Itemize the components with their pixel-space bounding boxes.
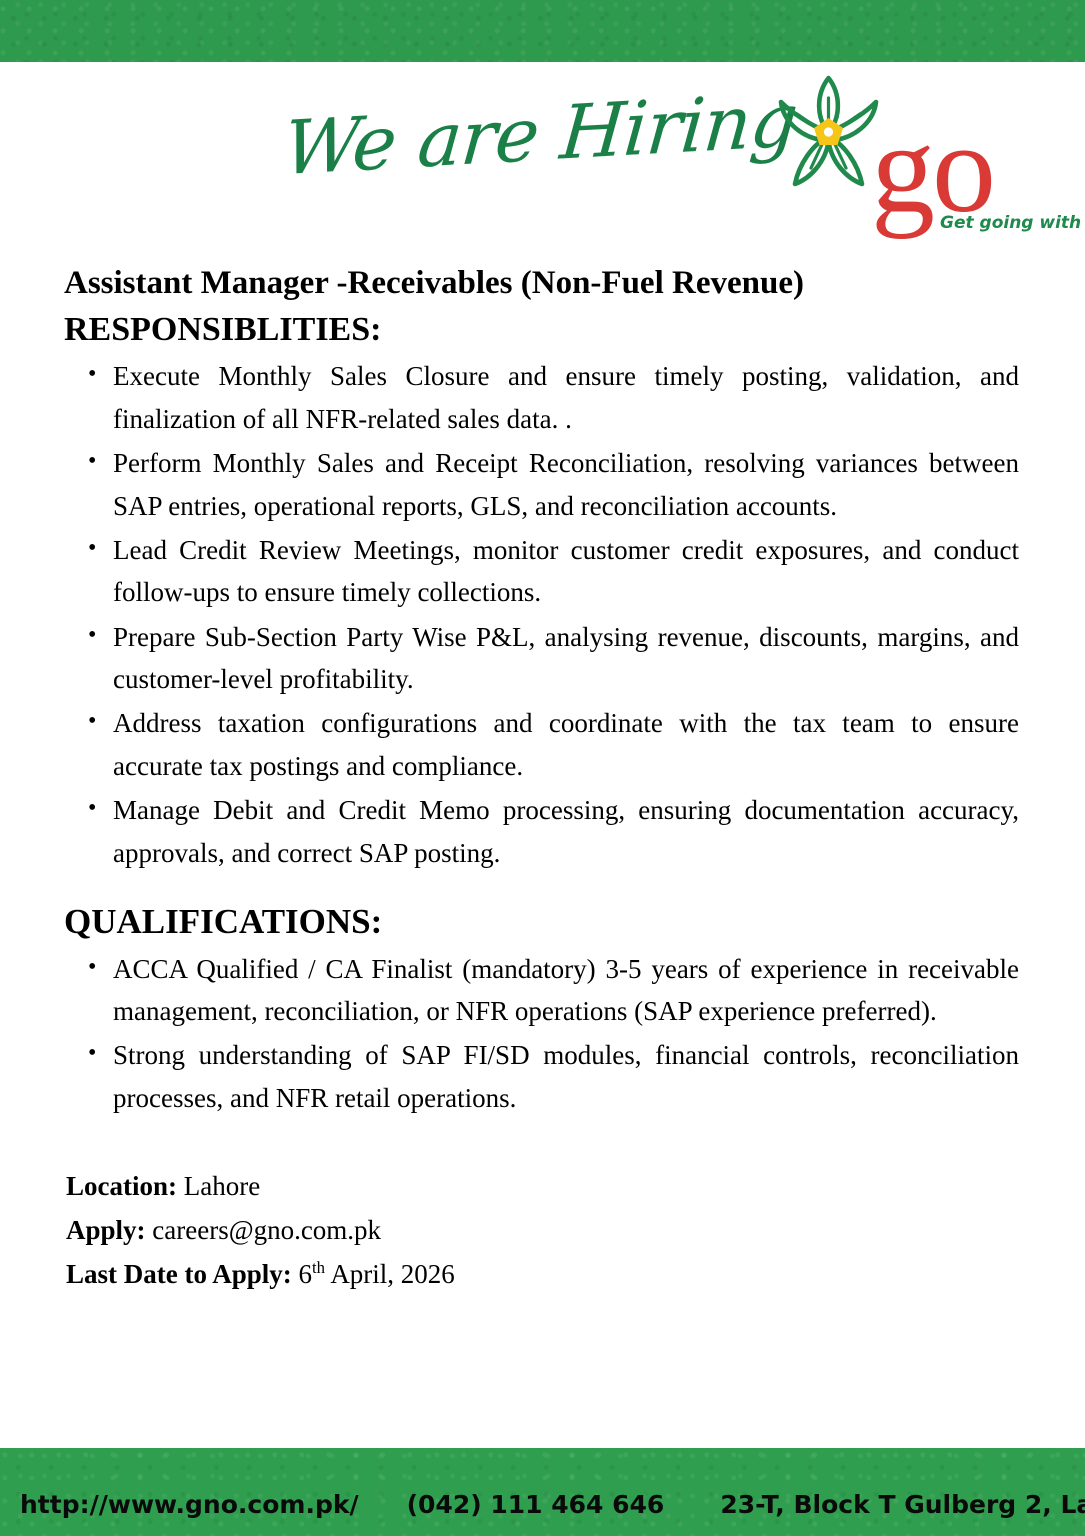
footer-green-banner: http://www.gno.com.pk/ (042) 111 464 646…: [0, 1448, 1085, 1536]
list-item: Execute Monthly Sales Closure and ensure…: [0, 355, 1085, 440]
last-date-row: Last Date to Apply: 6th April, 2026: [66, 1253, 1085, 1297]
list-item: Strong understanding of SAP FI/SD module…: [0, 1034, 1085, 1119]
responsibilities-heading: RESPONSIBLITIES:: [0, 309, 1085, 352]
location-row: Location: Lahore: [66, 1165, 1085, 1209]
list-item: Perform Monthly Sales and Receipt Reconc…: [0, 442, 1085, 527]
last-date-rest: April, 2026: [330, 1259, 455, 1289]
footer-website-link[interactable]: http://www.gno.com.pk/: [20, 1490, 359, 1519]
we-are-hiring-headline: We are Hiring: [281, 83, 800, 186]
responsibilities-list: Execute Monthly Sales Closure and ensure…: [0, 355, 1085, 874]
list-item: Prepare Sub-Section Party Wise P&L, anal…: [0, 616, 1085, 701]
logo-tagline: Get going with GO: [940, 213, 1085, 233]
go-company-logo: go Get going with GO: [766, 72, 1076, 247]
last-date-label: Last Date to Apply:: [66, 1259, 292, 1289]
qualifications-heading: QUALIFICATIONS:: [0, 900, 1085, 944]
qualifications-list: ACCA Qualified / CA Finalist (mandatory)…: [0, 948, 1085, 1120]
list-item: Manage Debit and Credit Memo processing,…: [0, 789, 1085, 874]
list-item: Lead Credit Review Meetings, monitor cus…: [0, 529, 1085, 614]
job-title: Assistant Manager -Receivables (Non-Fuel…: [0, 264, 1085, 303]
apply-email[interactable]: careers@gno.com.pk: [152, 1215, 381, 1245]
list-item: Address taxation configurations and coor…: [0, 702, 1085, 787]
apply-label: Apply:: [66, 1215, 146, 1245]
contact-details: Location: Lahore Apply: careers@gno.com.…: [0, 1165, 1085, 1296]
footer-contact-strip: http://www.gno.com.pk/ (042) 111 464 646…: [20, 1490, 1070, 1519]
poster-content: Assistant Manager -Receivables (Non-Fuel…: [0, 264, 1085, 1296]
list-item: ACCA Qualified / CA Finalist (mandatory)…: [0, 948, 1085, 1033]
apply-row: Apply: careers@gno.com.pk: [66, 1209, 1085, 1253]
location-value: Lahore: [184, 1171, 260, 1201]
footer-phone[interactable]: (042) 111 464 646: [407, 1490, 665, 1519]
location-label: Location:: [66, 1171, 177, 1201]
poster-header: We are Hiring: [0, 62, 1085, 262]
top-green-banner: [0, 0, 1085, 62]
last-date-day: 6: [299, 1259, 313, 1289]
last-date-ordinal-suffix: th: [312, 1258, 325, 1277]
footer-address: 23-T, Block T Gulberg 2, Lahore: [720, 1490, 1085, 1519]
